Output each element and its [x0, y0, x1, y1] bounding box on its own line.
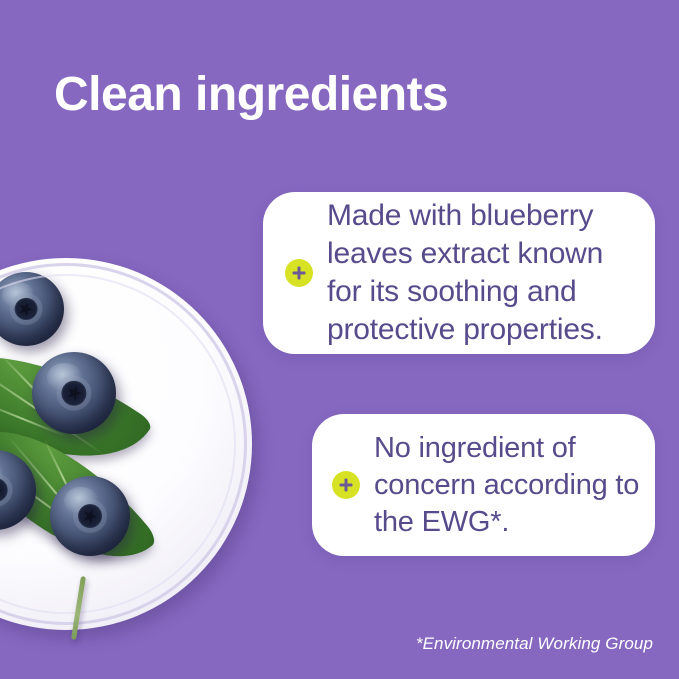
- benefit-card-text: Made with blueberry leaves extract known…: [327, 197, 655, 349]
- petri-dish: [0, 258, 252, 630]
- benefit-card-text: No ingredient of concern according to th…: [374, 430, 655, 541]
- blueberry-petri-dish-photo: [0, 258, 252, 630]
- plus-icon: [332, 471, 360, 499]
- benefit-card-ewg: No ingredient of concern according to th…: [312, 414, 655, 556]
- clean-ingredients-infographic: Clean ingredients: [0, 0, 679, 679]
- page-title: Clean ingredients: [54, 65, 448, 125]
- plus-icon: [285, 259, 313, 287]
- footnote: *Environmental Working Group: [416, 634, 653, 654]
- benefit-card-ingredients: Made with blueberry leaves extract known…: [263, 192, 655, 354]
